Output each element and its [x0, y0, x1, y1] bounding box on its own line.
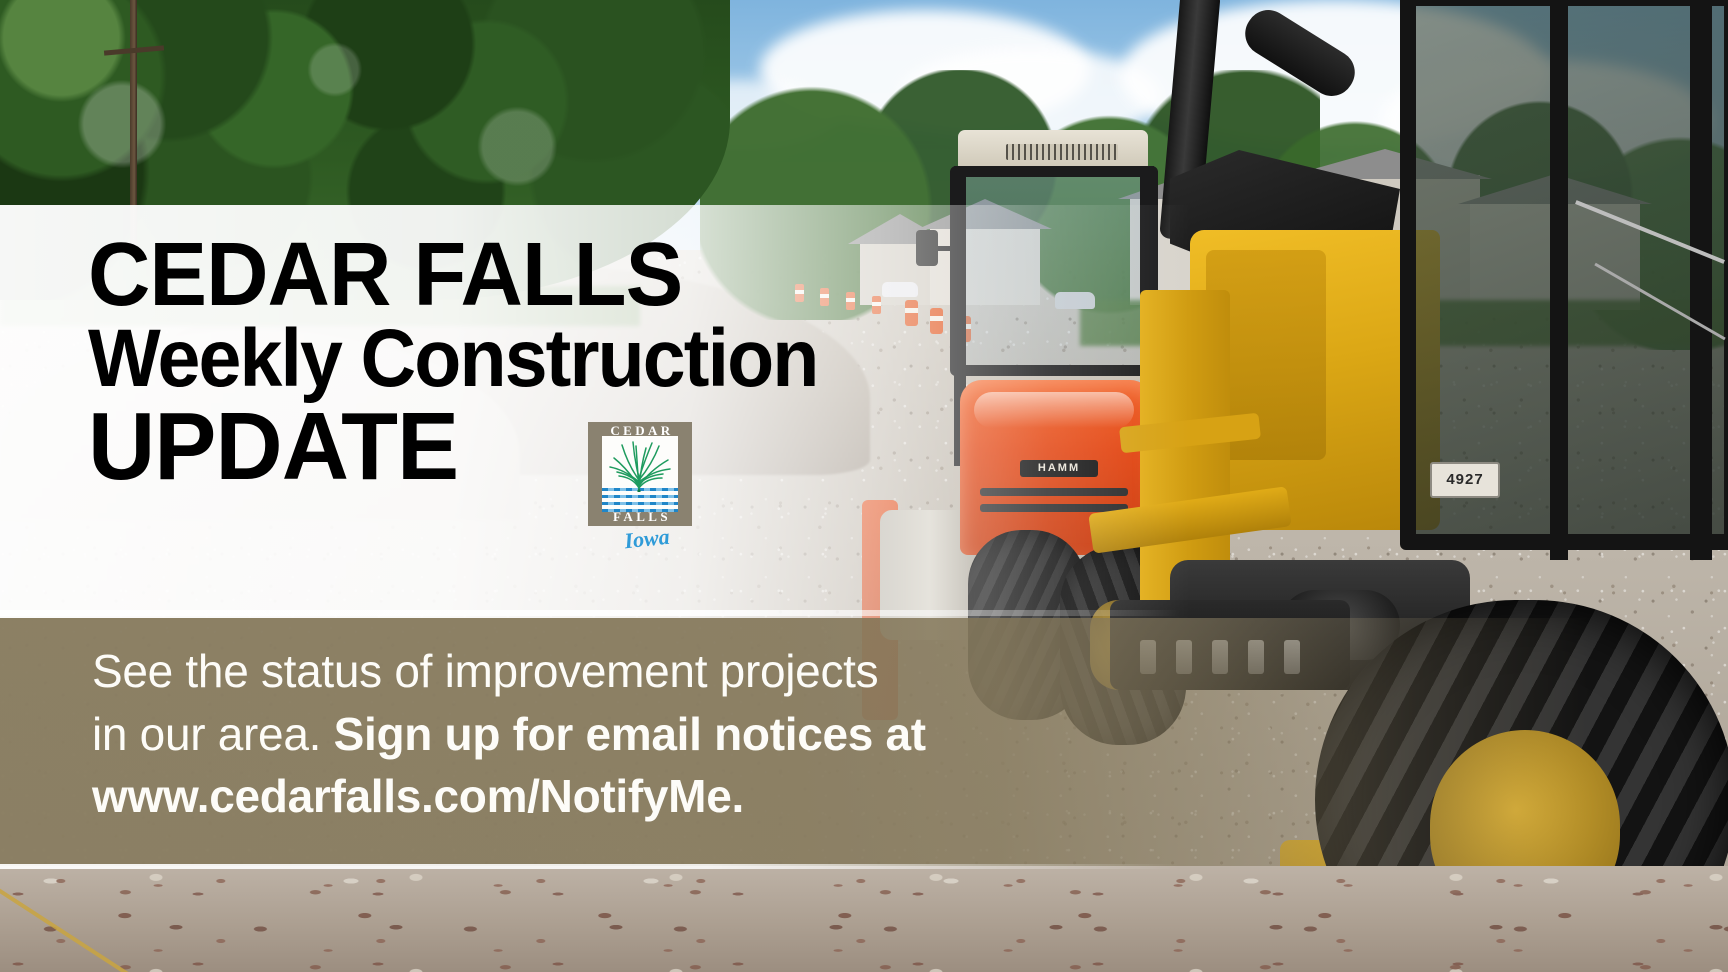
- headline-block: CEDAR FALLS Weekly Construction UPDATE: [88, 232, 888, 493]
- banner-line-3: www.cedarfalls.com/NotifyMe.: [92, 765, 1252, 828]
- headline-line-city: CEDAR FALLS: [88, 232, 856, 318]
- palm-tree-icon: [606, 436, 674, 492]
- foreground-gravel: [0, 866, 1728, 972]
- banner-top-rule: [0, 610, 1180, 616]
- banner-text-block: See the status of improvement projects i…: [92, 640, 1252, 828]
- banner-url[interactable]: www.cedarfalls.com/NotifyMe.: [92, 770, 744, 822]
- cedar-falls-city-logo: CEDAR FALLS Iowa: [588, 422, 706, 554]
- banner-line-2-bold: Sign up for email notices at: [334, 708, 926, 760]
- construction-update-graphic: HAMM 4927: [0, 0, 1728, 972]
- equipment-number-plate: 4927: [1430, 462, 1500, 498]
- logo-top-word: CEDAR: [592, 422, 692, 440]
- cab-mullion: [1550, 0, 1568, 560]
- logo-state-script: Iowa: [593, 521, 701, 558]
- banner-line-1: See the status of improvement projects: [92, 640, 1252, 703]
- banner-bottom-rule: [0, 864, 1180, 869]
- headline-line-update: UPDATE: [88, 401, 864, 493]
- headline-line-subject: Weekly Construction: [88, 320, 840, 399]
- banner-line-2-normal: in our area.: [92, 708, 334, 760]
- canopy-vent: [1006, 144, 1118, 160]
- banner-line-2: in our area. Sign up for email notices a…: [92, 703, 1252, 766]
- grader-hydraulic-arm: [1237, 2, 1363, 105]
- cab-mullion: [1690, 0, 1712, 560]
